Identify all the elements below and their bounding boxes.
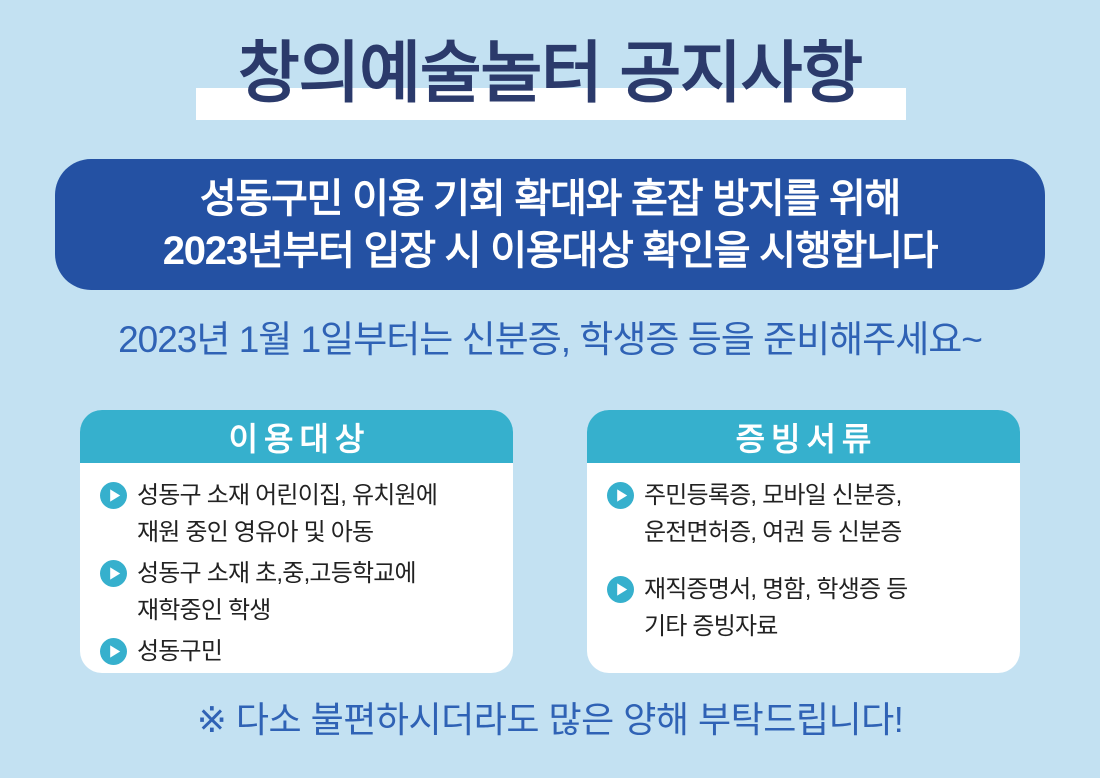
banner-line-2: 2023년부터 입장 시 이용대상 확인을 시행합니다 [163, 225, 938, 277]
subtitle-text: 2023년 1월 1일부터는 신분증, 학생증 등을 준비해주세요~ [0, 313, 1100, 367]
list-item: 성동구 소재 어린이집, 유치원에 재원 중인 영유아 및 아동 [100, 477, 497, 551]
list-item-line: 재직증명서, 명함, 학생증 등 [644, 571, 907, 608]
footer-note: ※ 다소 불편하시더라도 많은 양해 부탁드립니다! [0, 694, 1100, 746]
card-body-eligible-users: 성동구 소재 어린이집, 유치원에 재원 중인 영유아 및 아동 성동구 소재 … [80, 463, 513, 673]
list-item: 성동구민 [100, 633, 497, 670]
card-header-eligible-users: 이용대상 [80, 410, 513, 463]
list-item-line: 성동구 소재 초,중,고등학교에 [137, 555, 416, 592]
list-item-line: 재학중인 학생 [137, 592, 416, 629]
info-cards-row: 이용대상 성동구 소재 어린이집, 유치원에 재원 중인 영유아 및 아동 [80, 410, 1020, 673]
list-item-text: 주민등록증, 모바일 신분증, 운전면허증, 여권 등 신분증 [644, 477, 902, 551]
card-required-documents: 증빙서류 주민등록증, 모바일 신분증, 운전면허증, 여권 등 신분증 [587, 410, 1020, 673]
play-circle-icon [607, 482, 634, 509]
announcement-poster: 창의예술놀터 공지사항 성동구민 이용 기회 확대와 혼잡 방지를 위해 202… [0, 0, 1100, 778]
banner-line-1: 성동구민 이용 기회 확대와 혼잡 방지를 위해 [200, 173, 900, 225]
title-text: 창의예술놀터 공지사항 [0, 22, 1100, 126]
play-circle-icon [100, 482, 127, 509]
list-item-text: 성동구민 [137, 633, 222, 670]
card-header-required-documents: 증빙서류 [587, 410, 1020, 463]
main-notice-banner: 성동구민 이용 기회 확대와 혼잡 방지를 위해 2023년부터 입장 시 이용… [55, 159, 1045, 290]
list-item: 주민등록증, 모바일 신분증, 운전면허증, 여권 등 신분증 [607, 477, 1004, 551]
list-item-line: 기타 증빙자료 [644, 608, 907, 645]
poster-title: 창의예술놀터 공지사항 [0, 22, 1100, 132]
list-item-line: 성동구민 [137, 633, 222, 670]
list-item: 재직증명서, 명함, 학생증 등 기타 증빙자료 [607, 571, 1004, 645]
list-item-line: 운전면허증, 여권 등 신분증 [644, 514, 902, 551]
card-eligible-users: 이용대상 성동구 소재 어린이집, 유치원에 재원 중인 영유아 및 아동 [80, 410, 513, 673]
list-item-text: 재직증명서, 명함, 학생증 등 기타 증빙자료 [644, 571, 907, 645]
list-item-text: 성동구 소재 초,중,고등학교에 재학중인 학생 [137, 555, 416, 629]
play-circle-icon [100, 560, 127, 587]
list-item-line: 주민등록증, 모바일 신분증, [644, 477, 902, 514]
list-item: 성동구 소재 초,중,고등학교에 재학중인 학생 [100, 555, 497, 629]
list-item-line: 재원 중인 영유아 및 아동 [137, 514, 437, 551]
card-body-required-documents: 주민등록증, 모바일 신분증, 운전면허증, 여권 등 신분증 재직증명서, 명… [587, 463, 1020, 673]
play-circle-icon [100, 638, 127, 665]
list-item-text: 성동구 소재 어린이집, 유치원에 재원 중인 영유아 및 아동 [137, 477, 437, 551]
list-item-line: 성동구 소재 어린이집, 유치원에 [137, 477, 437, 514]
play-circle-icon [607, 576, 634, 603]
